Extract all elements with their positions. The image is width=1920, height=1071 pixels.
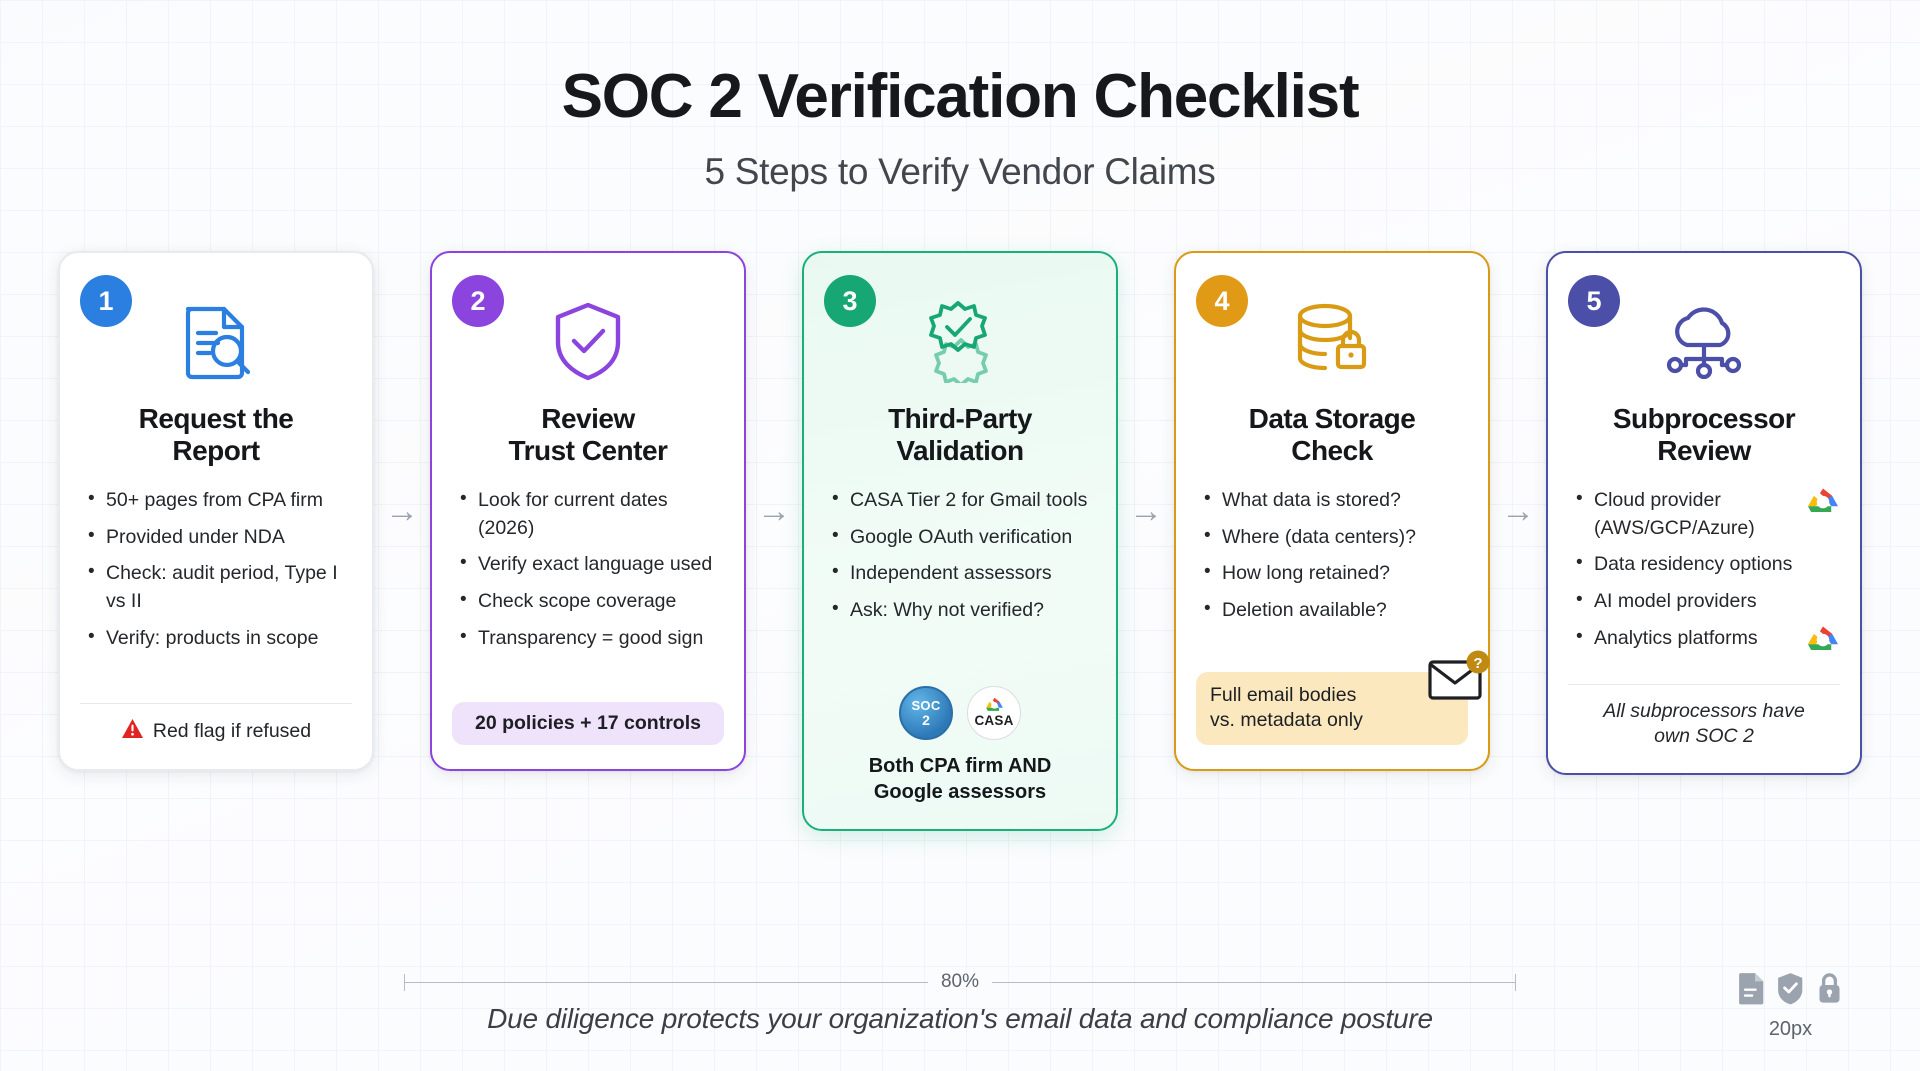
list-item: How long retained? (1202, 560, 1468, 588)
list-item: Ask: Why not verified? (830, 597, 1096, 625)
arrow-right-icon: → (757, 494, 791, 528)
legend-icons (1737, 972, 1844, 1010)
email-scope-callout: Full email bodies vs. metadata only ? (1196, 672, 1468, 745)
step-footer-5: All subprocessors have own SOC 2 (1568, 670, 1840, 750)
list-item-label: Cloud provider (AWS/GCP/Azure) (1594, 487, 1796, 542)
step-title-1: Request the Report (80, 403, 352, 469)
warning-triangle-icon (121, 718, 144, 745)
list-item: Verify exact language used (458, 551, 724, 579)
step-number-badge-5: 5 (1568, 275, 1620, 327)
step-number-badge-1: 1 (80, 275, 132, 327)
subprocessor-note-line2: own SOC 2 (1654, 725, 1754, 747)
list-item: Cloud provider (AWS/GCP/Azure) (1574, 487, 1840, 542)
page-title: SOC 2 Verification Checklist (0, 64, 1920, 129)
soc-2-badge-line1: SOC (911, 699, 940, 712)
google-cloud-icon (1806, 487, 1840, 523)
casa-badge: CASA (967, 686, 1021, 740)
step-bullets-4: What data is stored? Where (data centers… (1196, 487, 1468, 634)
steps-row: 1 Request the Report 50+ pages from CPA … (0, 251, 1920, 831)
list-item: Where (data centers)? (1202, 524, 1468, 552)
legend-size-label: 20px (1737, 1018, 1844, 1041)
callout-line2: vs. metadata only (1210, 709, 1363, 731)
connector-arrow-3: → (1118, 251, 1174, 771)
step-bullets-3: CASA Tier 2 for Gmail tools Google OAuth… (824, 487, 1096, 634)
step-title-line2: Trust Center (509, 435, 668, 466)
step-card-3[interactable]: 3 Third-Party Validation CASA Tier 2 for… (802, 251, 1118, 831)
list-item: CASA Tier 2 for Gmail tools (830, 487, 1096, 515)
list-item: Provided under NDA (86, 524, 352, 552)
assessor-note-line2: Google assessors (874, 781, 1046, 803)
step-title-2: Review Trust Center (452, 403, 724, 469)
step-title-3: Third-Party Validation (824, 403, 1096, 469)
red-flag-note: Red flag if refused (80, 718, 352, 745)
step-footer-2: 20 policies + 17 controls (452, 688, 724, 745)
arrow-right-icon: → (385, 494, 419, 528)
step-number-badge-4: 4 (1196, 275, 1248, 327)
measure-bar: 80% (404, 971, 1516, 993)
step-bullets-2: Look for current dates (2026) Verify exa… (452, 487, 724, 661)
list-item: Independent assessors (830, 560, 1096, 588)
icon-size-legend: 20px (1737, 972, 1844, 1041)
connector-arrow-4: → (1490, 251, 1546, 771)
footer-tagline: Due diligence protects your organization… (0, 1003, 1920, 1035)
step-card-5[interactable]: 5 Subprocessor Review Cloud provi (1546, 251, 1862, 775)
list-item: Transparency = good sign (458, 625, 724, 653)
list-item: Check: audit period, Type I vs II (86, 560, 352, 615)
assessor-note: Both CPA firm AND Google assessors (824, 754, 1096, 805)
google-cloud-icon (985, 697, 1004, 712)
step-title-line1: Subprocessor (1613, 403, 1795, 434)
certification-badges: SOC 2 CASA (824, 686, 1096, 740)
soc-2-badge-line2: 2 (922, 713, 930, 727)
step-number-badge-2: 2 (452, 275, 504, 327)
list-item: AI model providers (1574, 588, 1840, 616)
list-item: Data residency options (1574, 551, 1840, 579)
casa-badge-label: CASA (974, 713, 1013, 728)
connector-arrow-1: → (374, 251, 430, 771)
step-title-4: Data Storage Check (1196, 403, 1468, 469)
measure-line-left (405, 982, 928, 983)
step-card-2[interactable]: 2 Review Trust Center Look for current d… (430, 251, 746, 771)
infographic-page: SOC 2 Verification Checklist 5 Steps to … (0, 0, 1920, 1071)
divider (80, 703, 352, 704)
list-item: 50+ pages from CPA firm (86, 487, 352, 515)
step-card-4[interactable]: 4 Data Storage Check What data is stored… (1174, 251, 1490, 771)
subprocessor-note: All subprocessors have own SOC 2 (1568, 699, 1840, 750)
page-subtitle: 5 Steps to Verify Vendor Claims (0, 151, 1920, 193)
step-title-line1: Third-Party (888, 403, 1032, 434)
step-title-line1: Review (541, 403, 635, 434)
red-flag-label: Red flag if refused (153, 720, 311, 743)
step-bullets-5: Cloud provider (AWS/GCP/Azure) (1568, 487, 1840, 669)
step-title-line2: Report (172, 435, 259, 466)
step-title-line2: Review (1657, 435, 1751, 466)
subprocessor-note-line1: All subprocessors have (1603, 700, 1805, 722)
measure-line-right (992, 982, 1515, 983)
list-item: Verify: products in scope (86, 625, 352, 653)
step-footer-3: SOC 2 CASA Bot (824, 662, 1096, 805)
step-title-line2: Validation (896, 435, 1023, 466)
google-cloud-icon (1806, 625, 1840, 661)
arrow-right-icon: → (1501, 494, 1535, 528)
document-icon (1737, 972, 1766, 1010)
step-title-line1: Data Storage (1249, 403, 1416, 434)
envelope-question-icon: ? (1428, 650, 1492, 712)
assessor-note-line1: Both CPA firm AND (869, 755, 1052, 777)
step-footer-4: Full email bodies vs. metadata only ? (1196, 658, 1468, 745)
measure-value: 80% (928, 971, 992, 993)
arrow-right-icon: → (1129, 494, 1163, 528)
step-number-badge-3: 3 (824, 275, 876, 327)
step-title-5: Subprocessor Review (1568, 403, 1840, 469)
callout-line1: Full email bodies (1210, 684, 1356, 706)
connector-arrow-2: → (746, 251, 802, 771)
list-item: Analytics platforms (1574, 625, 1840, 661)
measure-cap-right (1515, 974, 1516, 991)
list-item: Look for current dates (2026) (458, 487, 724, 542)
list-item: What data is stored? (1202, 487, 1468, 515)
step-bullets-1: 50+ pages from CPA firm Provided under N… (80, 487, 352, 661)
svg-text:?: ? (1473, 655, 1482, 672)
status-badge: 20 policies + 17 controls (452, 702, 724, 745)
list-item-label: Analytics platforms (1594, 625, 1796, 653)
step-card-1[interactable]: 1 Request the Report 50+ pages from CPA … (58, 251, 374, 771)
step-title-line1: Request the (139, 403, 294, 434)
step-footer-1: Red flag if refused (80, 689, 352, 745)
list-item: Check scope coverage (458, 588, 724, 616)
step-title-line2: Check (1291, 435, 1373, 466)
shield-check-icon (1776, 972, 1805, 1010)
list-item: Deletion available? (1202, 597, 1468, 625)
divider (1568, 684, 1840, 685)
lock-icon (1815, 972, 1844, 1010)
footer: 80% Due diligence protects your organiza… (0, 971, 1920, 1071)
header: SOC 2 Verification Checklist 5 Steps to … (0, 0, 1920, 193)
list-item: Google OAuth verification (830, 524, 1096, 552)
soc-2-badge: SOC 2 (899, 686, 953, 740)
